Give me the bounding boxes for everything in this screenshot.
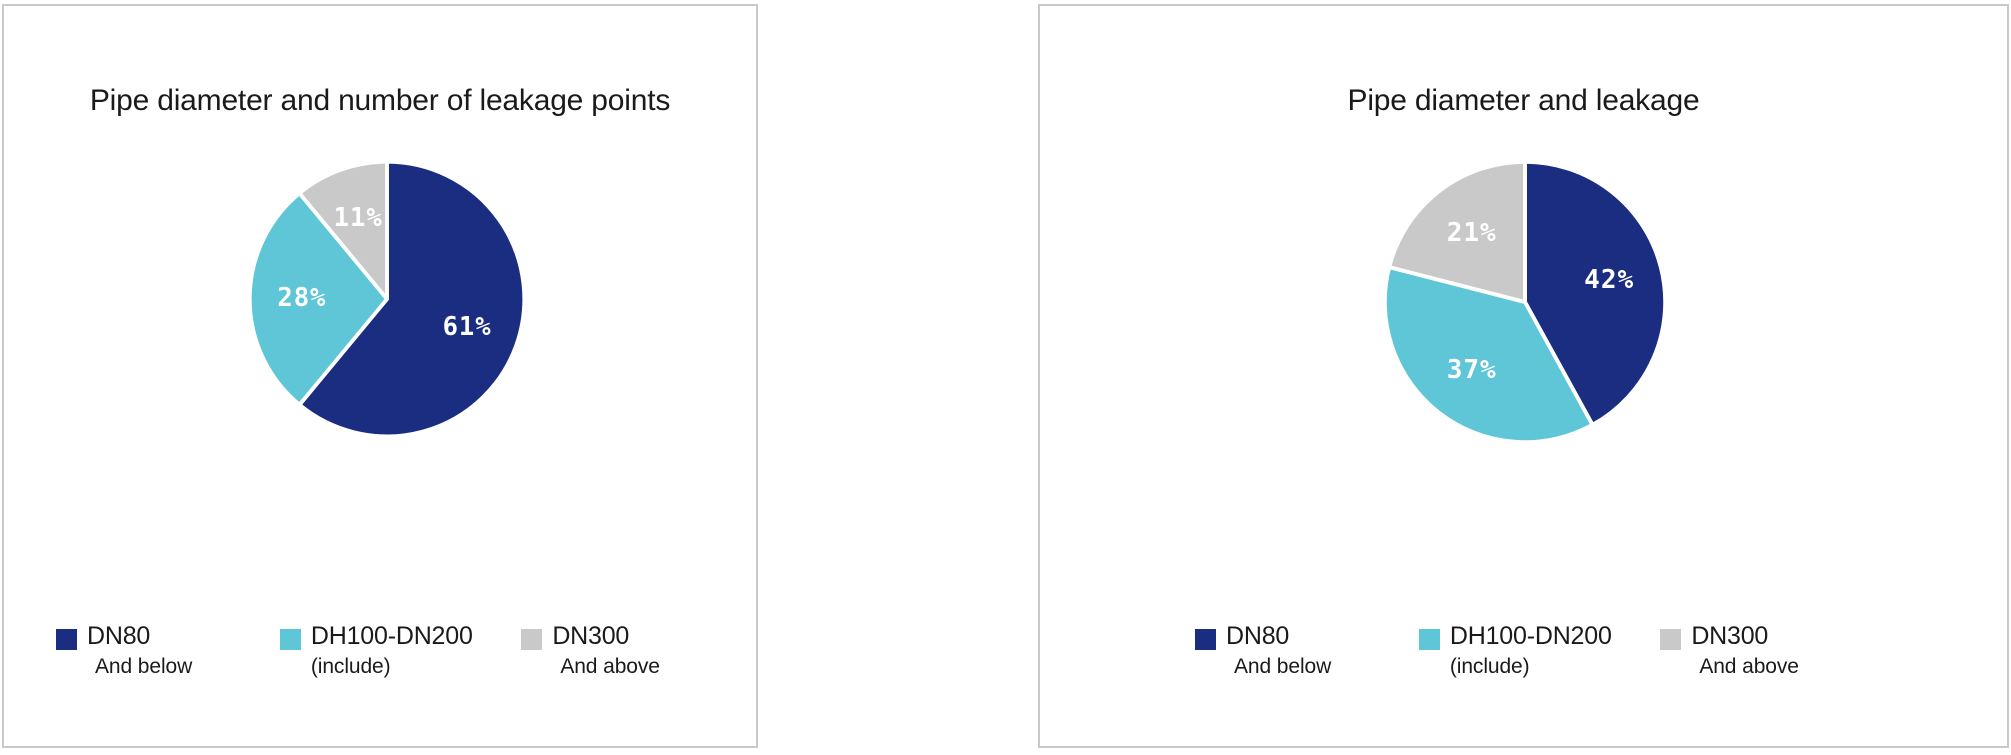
legend-label-dn80: DN80 bbox=[87, 624, 192, 649]
legend-sublabel-dn80: And below bbox=[95, 656, 192, 677]
legend-text-dn80: DN80 And below bbox=[87, 624, 192, 677]
pie-chart-left: 61%28%11% bbox=[245, 157, 529, 441]
legend-text-dh100-dn200: DH100-DN200 (include) bbox=[1450, 624, 1612, 677]
legend-sublabel-dn300: And above bbox=[1699, 656, 1799, 677]
legend-swatch-dn300 bbox=[1660, 629, 1681, 650]
legend-sublabel-dh100-dn200: (include) bbox=[1450, 656, 1612, 677]
legend-swatch-dh100-dn200 bbox=[280, 629, 301, 650]
pie-svg-left: 61%28%11% bbox=[245, 157, 529, 441]
legend-swatch-dn80 bbox=[56, 629, 77, 650]
legend-right: DN80 And below DH100-DN200 (include) DN3… bbox=[1195, 624, 1855, 677]
legend-swatch-dn300 bbox=[521, 629, 542, 650]
legend-sublabel-dh100-dn200: (include) bbox=[311, 656, 473, 677]
chart-panel-right: Pipe diameter and leakage 42%37%21% DN80… bbox=[1038, 4, 2009, 748]
page-title-right: Pipe diameter and leakage bbox=[1040, 84, 2007, 118]
chart-panel-left: Pipe diameter and number of leakage poin… bbox=[2, 4, 758, 748]
legend-swatch-dh100-dn200 bbox=[1419, 629, 1440, 650]
legend-label-dn80: DN80 bbox=[1226, 624, 1331, 649]
legend-item-dh100-dn200[interactable]: DH100-DN200 (include) bbox=[1419, 624, 1660, 677]
pie-slice-label: 11% bbox=[334, 203, 383, 233]
legend-label-dn300: DN300 bbox=[552, 624, 660, 649]
legend-text-dh100-dn200: DH100-DN200 (include) bbox=[311, 624, 473, 677]
pie-svg-right: 42%37%21% bbox=[1380, 157, 1670, 447]
legend-item-dn80[interactable]: DN80 And below bbox=[56, 624, 280, 677]
pie-chart-right: 42%37%21% bbox=[1380, 157, 1670, 447]
legend-label-dn300: DN300 bbox=[1691, 624, 1799, 649]
legend-swatch-dn80 bbox=[1195, 629, 1216, 650]
pie-slice-label: 21% bbox=[1447, 218, 1497, 248]
pie-slice-label: 28% bbox=[277, 283, 326, 313]
legend-left: DN80 And below DH100-DN200 (include) DN3… bbox=[56, 624, 716, 677]
legend-item-dh100-dn200[interactable]: DH100-DN200 (include) bbox=[280, 624, 521, 677]
legend-text-dn80: DN80 And below bbox=[1226, 624, 1331, 677]
legend-sublabel-dn80: And below bbox=[1234, 656, 1331, 677]
pie-slice-label: 37% bbox=[1447, 355, 1497, 385]
legend-text-dn300: DN300 And above bbox=[552, 624, 660, 677]
legend-item-dn80[interactable]: DN80 And below bbox=[1195, 624, 1419, 677]
legend-sublabel-dn300: And above bbox=[560, 656, 660, 677]
pie-slice-label: 42% bbox=[1584, 265, 1634, 295]
figure-canvas: Pipe diameter and number of leakage poin… bbox=[0, 0, 2011, 755]
pie-slice-label: 61% bbox=[443, 312, 492, 342]
legend-label-dh100-dn200: DH100-DN200 bbox=[311, 624, 473, 649]
legend-text-dn300: DN300 And above bbox=[1691, 624, 1799, 677]
page-title: Pipe diameter and number of leakage poin… bbox=[4, 84, 756, 118]
pie-slice-group bbox=[1385, 162, 1665, 442]
legend-item-dn300[interactable]: DN300 And above bbox=[1660, 624, 1855, 677]
legend-item-dn300[interactable]: DN300 And above bbox=[521, 624, 716, 677]
legend-label-dh100-dn200: DH100-DN200 bbox=[1450, 624, 1612, 649]
